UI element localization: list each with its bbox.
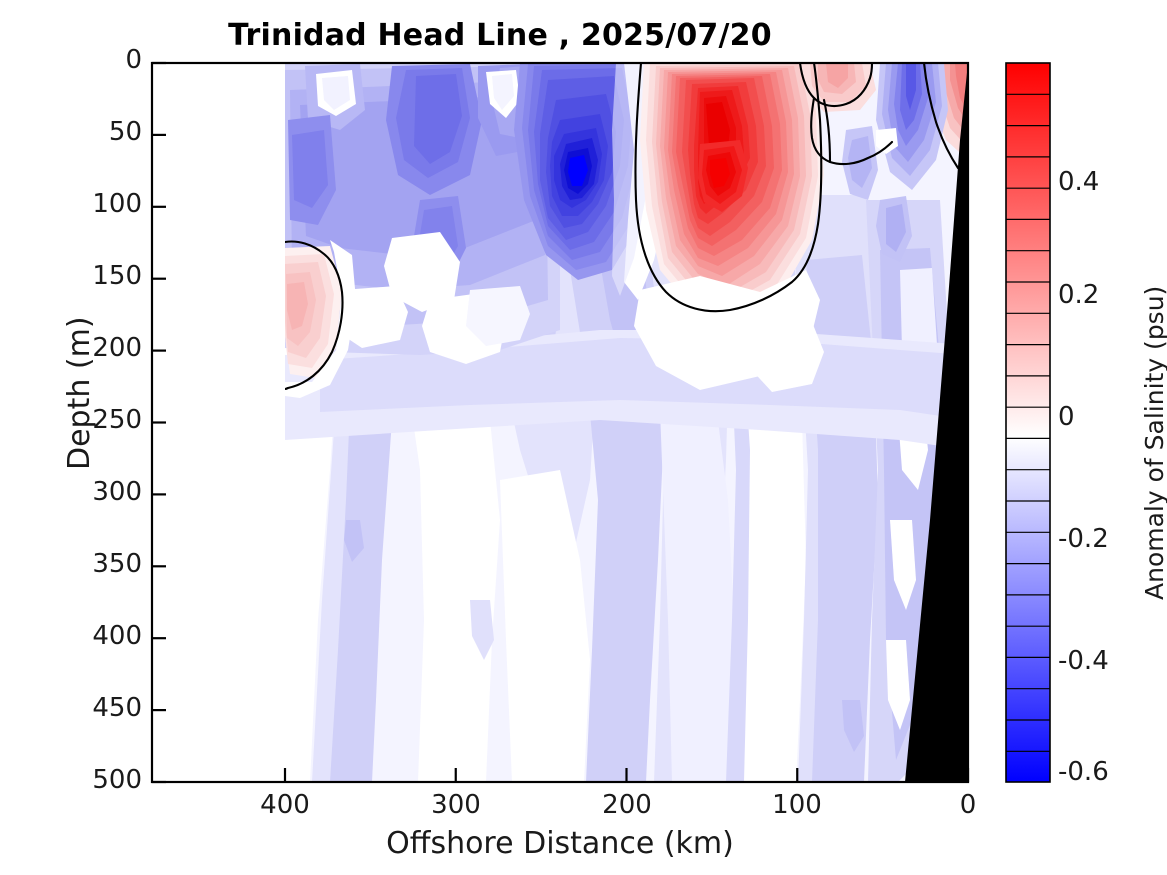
y-tick-200: 200 — [60, 333, 142, 363]
cb-tick-0p2: 0.2 — [1058, 280, 1099, 310]
y-tick-350: 350 — [60, 549, 142, 579]
y-tick-250: 250 — [60, 405, 142, 435]
cb-tick-0: 0 — [1058, 402, 1075, 432]
x-tick-400: 400 — [245, 790, 325, 820]
y-tick-150: 150 — [60, 261, 142, 291]
x-axis-label: Offshore Distance (km) — [0, 826, 1120, 861]
y-tick-100: 100 — [60, 189, 142, 219]
contour-plot — [0, 0, 1167, 875]
y-tick-400: 400 — [60, 621, 142, 651]
x-tick-300: 300 — [416, 790, 496, 820]
cb-tick-0p4: 0.4 — [1058, 167, 1099, 197]
x-tick-0: 0 — [928, 790, 1008, 820]
contour-field — [283, 63, 968, 782]
colorbar[interactable] — [1006, 63, 1050, 782]
cb-tick-m0p6: -0.6 — [1058, 757, 1109, 787]
colorbar-label: Anomaly of Salinity (psu) — [1140, 286, 1167, 600]
cb-tick-m0p4: -0.4 — [1058, 646, 1109, 676]
y-tick-300: 300 — [60, 477, 142, 507]
y-tick-450: 450 — [60, 693, 142, 723]
y-tick-50: 50 — [60, 117, 142, 147]
figure-canvas: Trinidad Head Line , 2025/07/20 — [0, 0, 1167, 875]
cb-tick-m0p2: -0.2 — [1058, 524, 1109, 554]
y-tick-0: 0 — [60, 45, 142, 75]
x-tick-200: 200 — [587, 790, 667, 820]
y-tick-500: 500 — [60, 765, 142, 795]
x-tick-100: 100 — [757, 790, 837, 820]
